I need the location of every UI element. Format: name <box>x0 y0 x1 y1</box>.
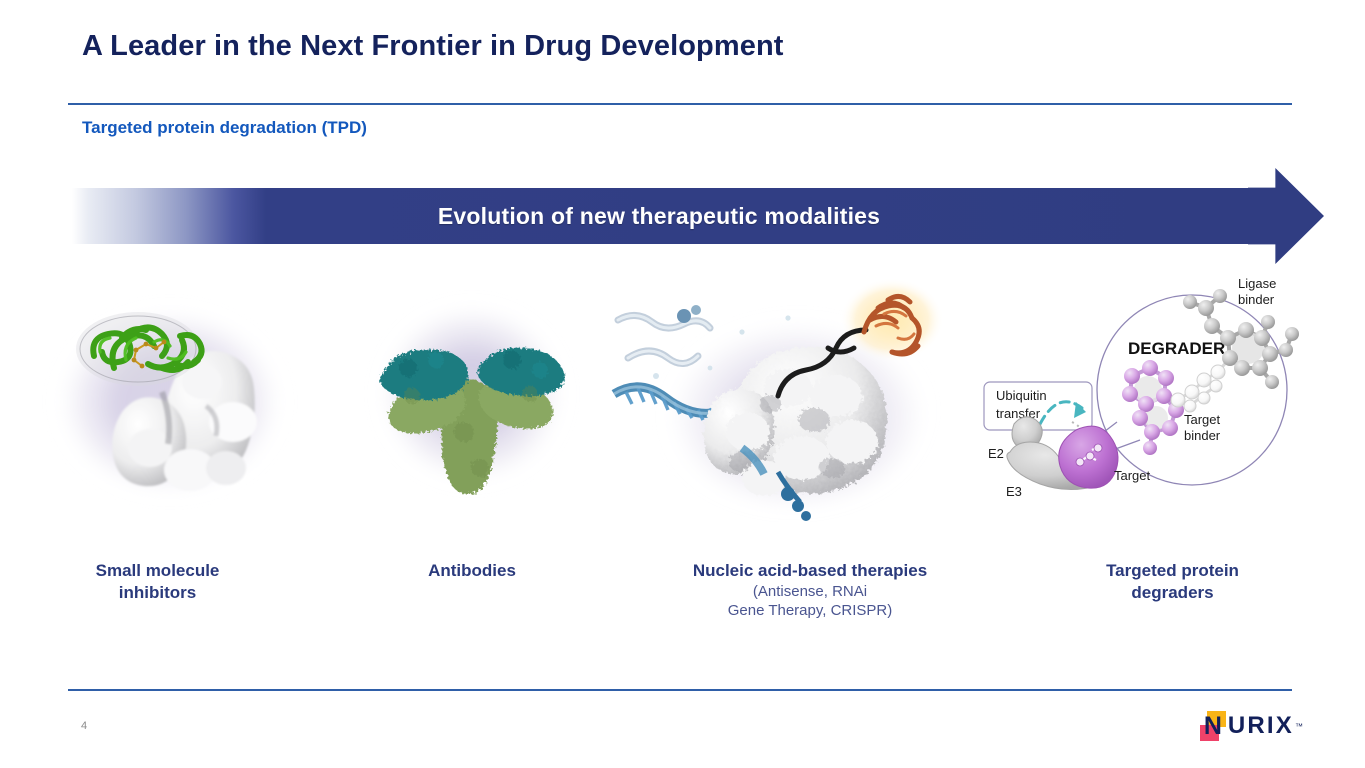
arrow-head-icon <box>1248 168 1324 264</box>
caption-headline-2: inhibitors <box>40 582 275 604</box>
figure-ribosome-rna <box>592 272 962 522</box>
arrow-banner-label: Evolution of new therapeutic modalities <box>66 188 1252 244</box>
ubiquitin-transfer-label-line1: Ubiquitin <box>996 388 1047 403</box>
modality-captions: Small molecule inhibitors Antibodies Nuc… <box>0 560 1365 650</box>
figure-protein-complex <box>30 272 320 522</box>
caption-sub-1: (Antisense, RNAi <box>640 582 980 601</box>
page-number: 4 <box>81 720 87 732</box>
target-binder-label-line2: binder <box>1184 428 1221 443</box>
ligase-binder-label-line1: Ligase <box>1238 276 1276 291</box>
caption-antibodies: Antibodies <box>352 560 592 582</box>
caption-small-molecule-inhibitors: Small molecule inhibitors <box>40 560 275 604</box>
caption-headline: Targeted protein <box>1040 560 1305 582</box>
caption-targeted-protein-degraders: Targeted protein degraders <box>1040 560 1305 604</box>
header-divider <box>68 103 1292 105</box>
e3-label: E3 <box>1006 484 1022 499</box>
degrader-title: DEGRADER <box>1128 339 1225 358</box>
nurix-logo: N URIX ™ <box>1200 710 1303 742</box>
ligase-binder-label-line2: binder <box>1238 292 1275 307</box>
modality-figures: Ubiquitin transfer <box>0 272 1365 532</box>
caption-headline: Small molecule <box>40 560 275 582</box>
footer-divider <box>68 689 1292 691</box>
slide: A Leader in the Next Frontier in Drug De… <box>0 0 1365 768</box>
caption-nucleic-acid-based-therapies: Nucleic acid-based therapies (Antisense,… <box>640 560 980 620</box>
figure-degrader-diagram: Ubiquitin transfer <box>980 272 1310 522</box>
target-label: Target <box>1114 468 1151 483</box>
caption-sub-2: Gene Therapy, CRISPR) <box>640 601 980 620</box>
slide-subtitle: Targeted protein degradation (TPD) <box>82 118 367 138</box>
caption-headline: Antibodies <box>352 560 592 582</box>
caption-headline-2: degraders <box>1040 582 1305 604</box>
figure-antibody <box>352 272 592 522</box>
logo-mark-icon: N <box>1200 711 1226 741</box>
logo-trademark: ™ <box>1295 722 1303 731</box>
logo-wordmark: URIX <box>1228 712 1294 740</box>
logo-letter-n: N <box>1200 711 1226 741</box>
page-title: A Leader in the Next Frontier in Drug De… <box>82 30 784 63</box>
target-binder-label-line1: Target <box>1184 412 1221 427</box>
evolution-arrow-banner: Evolution of new therapeutic modalities <box>66 168 1323 264</box>
caption-headline: Nucleic acid-based therapies <box>640 560 980 582</box>
e2-label: E2 <box>988 446 1004 461</box>
